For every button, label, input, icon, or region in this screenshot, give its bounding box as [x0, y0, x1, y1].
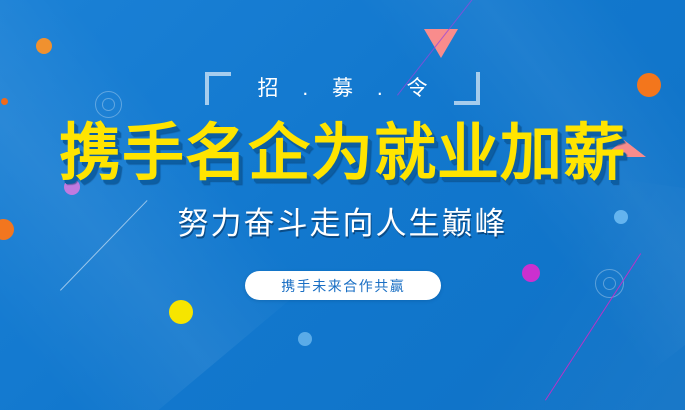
recruitment-banner: 招 . 募 . 令 携手名企为就业加薪 努力奋斗走向人生巅峰 携手未来合作共赢: [0, 0, 685, 410]
eyebrow-text: 招 . 募 . 令: [0, 72, 685, 102]
subtitle: 努力奋斗走向人生巅峰: [0, 205, 685, 243]
cta-container: 携手未来合作共赢: [0, 271, 685, 300]
page-title: 携手名企为就业加薪: [0, 119, 685, 189]
orange-dot-top-left: [36, 38, 52, 54]
cta-button[interactable]: 携手未来合作共赢: [245, 271, 441, 300]
lightblue-dot-bottom: [298, 332, 312, 346]
yellow-dot-bottom-left: [169, 300, 193, 324]
